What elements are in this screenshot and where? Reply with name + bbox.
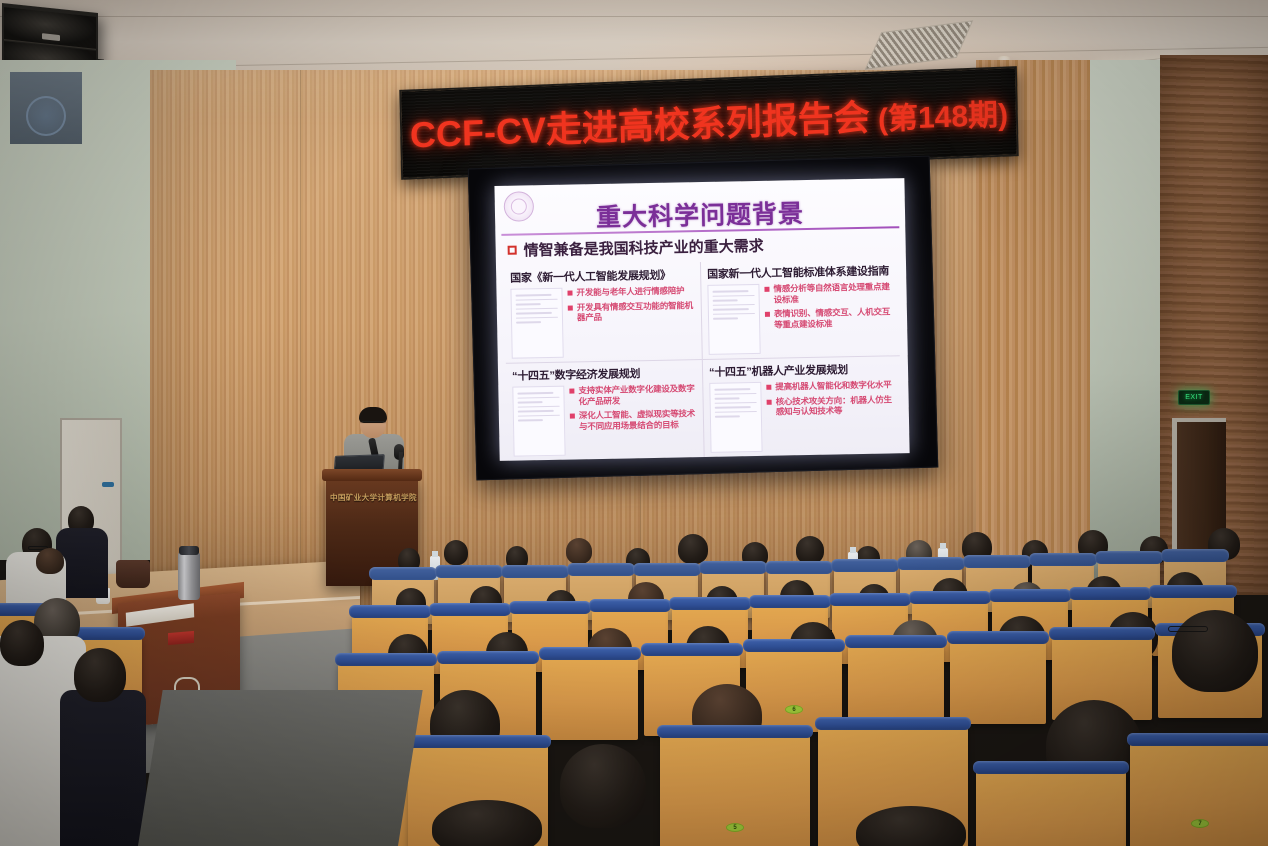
seat-number-label: 7 [1191,819,1209,828]
audience-body [60,690,146,846]
led-banner-text: CCF-CV走进高校系列报告会 (第148期) [409,84,1008,159]
slide-subtitle-row: 情智兼备是我国科技产业的重大需求 [507,235,763,261]
audience-head [36,548,64,574]
door-handle [102,482,114,487]
slide-cell: 国家新一代人工智能标准体系建设指南 情感分析等自然语言处理重点建设标准 表情识别… [701,258,900,360]
slide-bullet: 情感分析等自然语言处理重点建设标准 [764,281,892,305]
auditorium-seat[interactable] [950,640,1046,724]
slide-bullet: 开发具有情感交互功能的智能机器产品 [568,300,695,324]
banner-main-text: CCF-CV走进高校系列报告会 [410,97,871,156]
lectern-engraving: 中国矿业大学计算机学院 [330,492,414,503]
audience-head [566,538,592,564]
auditorium-seat[interactable]: 7 [1130,742,1268,846]
slide-cell: “十四五”机器人产业发展规划 提高机器人智能化和数字化水平 核心技术攻关方向：机… [703,356,902,457]
slide-cell: 国家《新一代人工智能发展规划》 开发能与老年人进行情感陪护 开发具有情感交互功能… [504,262,703,364]
university-emblem-icon [26,96,66,136]
exit-sign: EXIT [1178,390,1210,405]
slide-bullet: 核心技术攻关方向：机器人仿生感知与认知技术等 [767,394,895,418]
auditorium-seat[interactable]: 5 [660,734,810,846]
slide-content-grid: 国家《新一代人工智能发展规划》 开发能与老年人进行情感陪护 开发具有情感交互功能… [504,258,902,455]
slide-bullet: 开发能与老年人进行情感陪护 [567,285,694,298]
auditorium-seat[interactable] [976,770,1126,846]
slide-cell-heading: 国家新一代人工智能标准体系建设指南 [707,262,892,282]
square-bullet-icon [508,246,517,255]
auditorium-seat[interactable] [848,644,944,728]
audience-head [1172,610,1258,692]
lectern-top [322,469,422,481]
slide-bullet: 深化人工智能、虚拟现实等技术与不同应用场景结合的目标 [570,408,697,432]
projection-screen: 重大科学问题背景 情智兼备是我国科技产业的重大需求 国家《新一代人工智能发展规划… [468,156,939,481]
red-folder [168,631,194,645]
slide-cell-heading: “十四五”数字经济发展规划 [512,364,696,384]
aisle-floor [137,690,422,846]
document-thumbnail [709,382,762,453]
slide-cell-heading: “十四五”机器人产业发展规划 [709,360,894,380]
vacuum-flask [178,552,200,600]
document-thumbnail [707,284,760,355]
auditorium-seat[interactable] [542,656,638,740]
slide-bullet: 提高机器人智能化和数字化水平 [766,379,894,392]
auditorium-photo: EXIT CCF-CV走进高校系列报告会 (第148期) 重大科学问题背景 情智… [0,0,1268,846]
wall-seam [300,70,301,630]
audience-head [560,744,646,828]
slide-subtitle: 情智兼备是我国科技产业的重大需求 [523,235,763,261]
banner-suffix-text: (第148期) [869,99,1008,137]
exit-sign-label: EXIT [1185,394,1203,401]
audience-head [74,648,126,702]
seat-number-label: 6 [785,705,803,714]
audience-head [678,534,708,564]
ceiling-seam [0,16,1268,17]
document-thumbnail [510,288,563,359]
glasses-icon [362,421,384,425]
glasses-icon [1168,626,1208,632]
slide-cell-heading: 国家《新一代人工智能发展规划》 [510,266,694,286]
vacuum-flask-cap [179,546,199,555]
handbag [116,560,150,588]
slide-bullet: 支持实体产业数字化建设及数字化产品研发 [569,383,696,407]
seat-number-label: 5 [726,823,744,832]
slide-cell: “十四五”数字经济发展规划 支持实体产业数字化建设及数字化产品研发 深化人工智能… [506,360,705,461]
presentation-slide: 重大科学问题背景 情智兼备是我国科技产业的重大需求 国家《新一代人工智能发展规划… [494,178,909,461]
document-thumbnail [512,386,565,457]
audience-head [796,536,824,564]
audience-head [444,540,468,565]
audience-head [0,620,44,666]
wall-panel-green-right [1090,60,1168,580]
slide-bullet: 表情识别、情感交互、人机交互等重点建设标准 [765,307,893,331]
